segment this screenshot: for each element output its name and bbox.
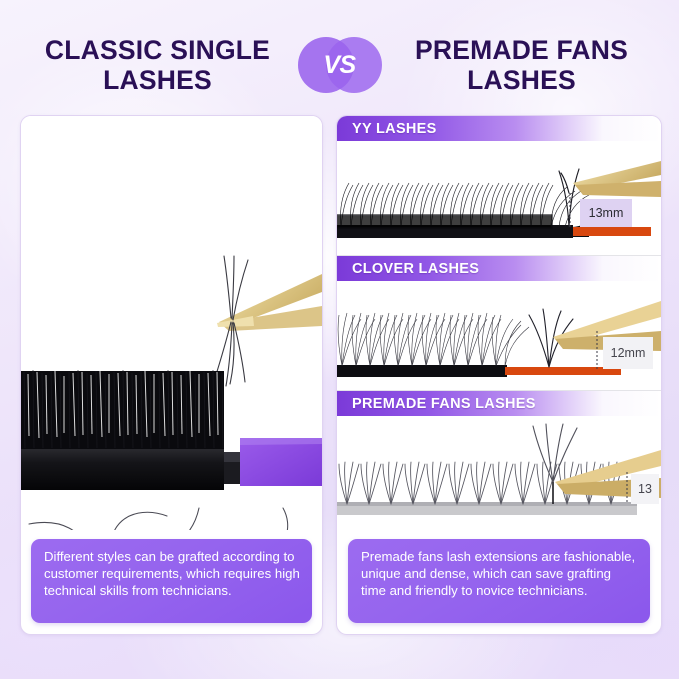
section-yy-lashes: YY LASHES <box>337 116 661 254</box>
section-label-bar-yy: YY LASHES <box>337 116 661 141</box>
section-premade-fans: PREMADE FANS LASHES <box>337 391 661 524</box>
measurement-label-clover: 12mm <box>611 346 646 360</box>
comparison-header: CLASSIC SINGLE LASHES VS PREMADE FANS LA… <box>0 26 679 104</box>
left-panel-title: CLASSIC SINGLE LASHES <box>24 35 298 95</box>
clover-lashes-svg <box>337 281 661 389</box>
premade-fans-caption: Premade fans lash extensions are fashion… <box>348 539 650 623</box>
measurement-chip-premade: 13 <box>631 474 659 504</box>
measure-band-yy <box>573 227 651 236</box>
measurement-label-premade: 13 <box>638 482 652 496</box>
classic-lashes-svg <box>21 116 322 530</box>
vs-label: VS <box>323 51 355 80</box>
section-clover-lashes: CLOVER LASHES <box>337 256 661 389</box>
classic-lashes-artwork <box>21 116 322 530</box>
clover-lashes-artwork: 12mm <box>337 281 661 389</box>
single-lash-curves <box>29 508 293 530</box>
measurement-chip-yy: 13mm <box>580 199 632 227</box>
section-label-bar-premade: PREMADE FANS LASHES <box>337 391 661 416</box>
yy-lashes-svg <box>337 141 661 254</box>
page-root: CLASSIC SINGLE LASHES VS PREMADE FANS LA… <box>0 0 679 679</box>
section-label-clover: CLOVER LASHES <box>337 261 479 277</box>
classic-lashes-card: Different styles can be grafted accordin… <box>20 115 323 635</box>
section-label-bar-clover: CLOVER LASHES <box>337 256 661 281</box>
classic-lashes-caption: Different styles can be grafted accordin… <box>31 539 312 623</box>
section-label-premade: PREMADE FANS LASHES <box>337 396 536 412</box>
premade-fans-card: YY LASHES <box>336 115 662 635</box>
section-label-yy: YY LASHES <box>337 121 437 137</box>
measurement-chip-clover: 12mm <box>603 337 653 369</box>
right-panel-title: PREMADE FANS LASHES <box>382 35 656 95</box>
yy-lashes-artwork: 13mm <box>337 141 661 254</box>
measurement-label-yy: 13mm <box>589 206 624 220</box>
vs-badge: VS <box>298 34 382 96</box>
premade-fans-svg <box>337 416 661 524</box>
purple-tab <box>240 438 322 486</box>
premade-fans-artwork: 13 <box>337 416 661 524</box>
